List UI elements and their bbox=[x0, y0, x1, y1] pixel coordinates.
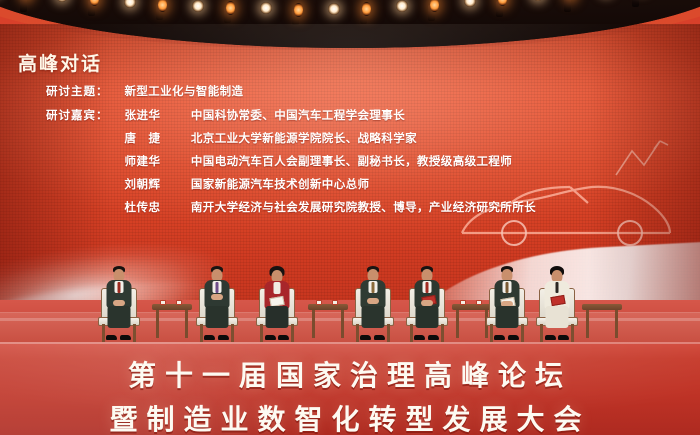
speaker-5 bbox=[410, 266, 444, 338]
side-table bbox=[308, 304, 348, 338]
panel-seating bbox=[0, 227, 700, 342]
host-7 bbox=[540, 266, 574, 338]
guest-name: 刘朝辉 bbox=[124, 176, 186, 192]
banner-divider bbox=[0, 342, 700, 344]
stage-light-icon bbox=[396, 0, 408, 12]
stage-light-icon bbox=[192, 0, 204, 12]
topic-label: 研讨主题： bbox=[46, 83, 120, 99]
guest-title: 中国电动汽车百人会副理事长、副秘书长，教授级高级工程师 bbox=[191, 153, 512, 169]
guest-row: 杜传忠 南开大学经济与社会发展研究院教授、博导，产业经济研究所所长 bbox=[46, 198, 536, 216]
guest-row: 刘朝辉 国家新能源汽车技术创新中心总师 bbox=[46, 175, 369, 193]
banner-title-line-2: 暨制造业数智化转型发展大会 bbox=[0, 398, 700, 435]
conference-stage-photo: 高峰对话 研讨主题： 新型工业化与智能制造 研讨嘉宾： 张进华 中国科协常委、中… bbox=[0, 0, 700, 435]
session-title: 高峰对话 bbox=[18, 49, 102, 76]
speaker-1 bbox=[102, 266, 136, 338]
guest-row: 唐 捷 北京工业大学新能源学院院长、战略科学家 bbox=[46, 129, 417, 147]
side-table bbox=[582, 304, 622, 338]
guests-label: 研讨嘉宾： bbox=[46, 107, 120, 123]
topic-row: 研讨主题： 新型工业化与智能制造 bbox=[46, 82, 243, 100]
stage-light-icon bbox=[362, 2, 371, 16]
guest-title: 北京工业大学新能源学院院长、战略科学家 bbox=[191, 130, 417, 146]
guest-row: 研讨嘉宾： 张进华 中国科协常委、中国汽车工程学会理事长 bbox=[46, 106, 405, 124]
guest-title: 中国科协常委、中国汽车工程学会理事长 bbox=[191, 107, 405, 123]
stage-light-icon bbox=[260, 2, 272, 14]
banner-title-line-1: 第十一届国家治理高峰论坛 bbox=[0, 354, 700, 394]
guest-name: 张进华 bbox=[124, 107, 186, 123]
stage-light-icon bbox=[328, 3, 340, 15]
guest-row: 师建华 中国电动汽车百人会副理事长、副秘书长，教授级高级工程师 bbox=[46, 152, 512, 170]
guest-title: 国家新能源汽车技术创新中心总师 bbox=[191, 176, 370, 192]
guest-name: 杜传忠 bbox=[124, 199, 186, 215]
speaker-2 bbox=[200, 266, 234, 338]
speaker-4 bbox=[356, 266, 390, 338]
stage-light-icon bbox=[226, 1, 235, 15]
ceiling-truss bbox=[0, 0, 700, 48]
speaker-6 bbox=[490, 266, 524, 338]
side-table bbox=[152, 304, 192, 338]
topic-value: 新型工业化与智能制造 bbox=[124, 83, 243, 99]
guest-name: 师建华 bbox=[124, 153, 186, 169]
guest-title: 南开大学经济与社会发展研究院教授、博导，产业经济研究所所长 bbox=[191, 199, 536, 215]
event-banner: 第十一届国家治理高峰论坛 暨制造业数智化转型发展大会 bbox=[0, 342, 700, 435]
stage-light-icon bbox=[294, 3, 303, 17]
speaker-3 bbox=[260, 266, 294, 338]
guest-name: 唐 捷 bbox=[124, 130, 186, 146]
